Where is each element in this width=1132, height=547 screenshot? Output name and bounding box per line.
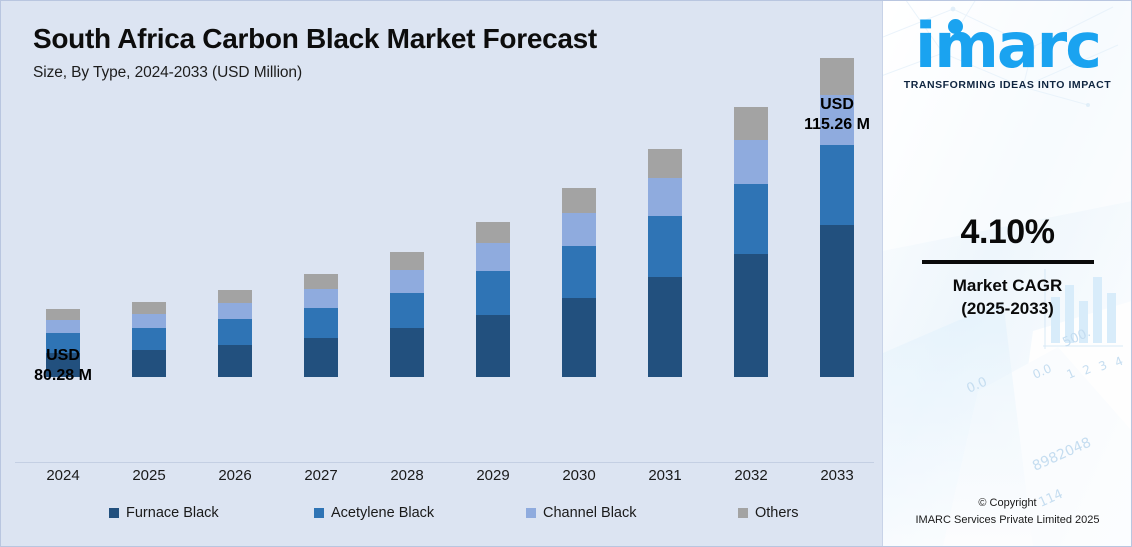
legend-label: Furnace Black (126, 505, 219, 521)
bar-2027[interactable] (304, 274, 338, 377)
bar-segment-others-2030[interactable] (562, 188, 596, 213)
x-axis-line (15, 462, 874, 463)
bar-segment-others-2029[interactable] (476, 222, 510, 243)
legend-item-acetylene-black[interactable]: Acetylene Black (314, 505, 434, 521)
bar-segment-acetylene-black-2028[interactable] (390, 293, 424, 328)
bar-2026[interactable] (218, 290, 252, 377)
bar-segment-acetylene-black-2032[interactable] (734, 184, 768, 254)
bar-segment-acetylene-black-2025[interactable] (132, 328, 166, 350)
bar-segment-furnace-black-2025[interactable] (132, 350, 166, 377)
bar-2029[interactable] (476, 222, 510, 377)
bar-value-label-2033: USD 115.26 M (777, 95, 897, 135)
x-axis-tick-2032: 2032 (711, 467, 791, 484)
bar-segment-acetylene-black-2031[interactable] (648, 216, 682, 277)
bar-segment-others-2024[interactable] (46, 309, 80, 320)
cagr-divider (922, 260, 1094, 264)
bar-2032[interactable] (734, 107, 768, 377)
imarc-logo: imarc TRANSFORMING IDEAS INTO IMPACT (883, 17, 1131, 91)
bar-segment-acetylene-black-2026[interactable] (218, 319, 252, 345)
bar-segment-channel-black-2028[interactable] (390, 270, 424, 293)
bar-segment-furnace-black-2027[interactable] (304, 338, 338, 377)
logo-dot-icon (948, 19, 963, 34)
bar-segment-acetylene-black-2030[interactable] (562, 246, 596, 298)
x-axis-tick-2030: 2030 (539, 467, 619, 484)
bar-segment-channel-black-2026[interactable] (218, 303, 252, 319)
chart-infographic: South Africa Carbon Black Market Forecas… (0, 0, 1132, 547)
legend-swatch-icon (314, 508, 324, 518)
bar-segment-furnace-black-2029[interactable] (476, 315, 510, 377)
legend-item-furnace-black[interactable]: Furnace Black (109, 505, 219, 521)
bar-segment-acetylene-black-2033[interactable] (820, 145, 854, 225)
copyright-line-1: © Copyright (883, 495, 1131, 513)
legend-label: Others (755, 505, 799, 521)
x-axis-tick-2031: 2031 (625, 467, 705, 484)
copyright-line-2: IMARC Services Private Limited 2025 (883, 512, 1131, 530)
bar-2030[interactable] (562, 188, 596, 377)
cagr-block: 4.10% Market CAGR (2025-2033) (883, 213, 1131, 319)
x-axis-tick-2025: 2025 (109, 467, 189, 484)
bar-2025[interactable] (132, 302, 166, 377)
bar-segment-others-2031[interactable] (648, 149, 682, 178)
bar-segment-furnace-black-2030[interactable] (562, 298, 596, 377)
bar-segment-channel-black-2027[interactable] (304, 289, 338, 308)
bar-segment-acetylene-black-2027[interactable] (304, 308, 338, 338)
cagr-value: 4.10% (883, 213, 1131, 252)
x-axis-tick-2029: 2029 (453, 467, 533, 484)
x-axis-tick-2024: 2024 (23, 467, 103, 484)
legend-label: Channel Black (543, 505, 637, 521)
logo-wordmark: imarc (915, 17, 1100, 76)
bar-segment-channel-black-2025[interactable] (132, 314, 166, 328)
bar-segment-others-2027[interactable] (304, 274, 338, 289)
legend-label: Acetylene Black (331, 505, 434, 521)
bar-segment-others-2026[interactable] (218, 290, 252, 303)
bar-segment-others-2028[interactable] (390, 252, 424, 270)
x-axis-tick-2026: 2026 (195, 467, 275, 484)
x-axis-tick-2028: 2028 (367, 467, 447, 484)
bar-segment-channel-black-2030[interactable] (562, 213, 596, 246)
bar-segment-furnace-black-2026[interactable] (218, 345, 252, 377)
legend-swatch-icon (738, 508, 748, 518)
bar-segment-furnace-black-2032[interactable] (734, 254, 768, 377)
bar-segment-others-2032[interactable] (734, 107, 768, 140)
bar-2031[interactable] (648, 149, 682, 377)
bar-segment-furnace-black-2031[interactable] (648, 277, 682, 377)
bar-segment-channel-black-2032[interactable] (734, 140, 768, 184)
bar-segment-channel-black-2024[interactable] (46, 320, 80, 333)
copyright-block: © Copyright IMARC Services Private Limit… (883, 495, 1131, 530)
cagr-period: (2025-2033) (883, 299, 1131, 319)
x-axis-labels: 2024202520262027202820292030203120322033 (1, 467, 882, 491)
bar-segment-channel-black-2029[interactable] (476, 243, 510, 271)
legend-swatch-icon (109, 508, 119, 518)
bar-segment-furnace-black-2028[interactable] (390, 328, 424, 377)
legend-item-channel-black[interactable]: Channel Black (526, 505, 637, 521)
chart-panel: South Africa Carbon Black Market Forecas… (1, 1, 882, 546)
legend-swatch-icon (526, 508, 536, 518)
x-axis-tick-2027: 2027 (281, 467, 361, 484)
cagr-label: Market CAGR (883, 274, 1131, 299)
bar-segment-furnace-black-2033[interactable] (820, 225, 854, 377)
bar-segment-acetylene-black-2029[interactable] (476, 271, 510, 315)
plot-area: USD 80.28 MUSD 115.26 M (1, 1, 882, 463)
bar-segment-channel-black-2031[interactable] (648, 178, 682, 216)
bar-2028[interactable] (390, 252, 424, 377)
bar-segment-others-2033[interactable] (820, 58, 854, 95)
bar-value-label-2024: USD 80.28 M (3, 346, 123, 386)
x-axis-tick-2033: 2033 (797, 467, 877, 484)
chart-legend: Furnace BlackAcetylene BlackChannel Blac… (1, 505, 882, 529)
brand-panel: 500. 0.0 1 2 3 4 8982048 114 0.0 (882, 1, 1131, 546)
bar-segment-others-2025[interactable] (132, 302, 166, 314)
legend-item-others[interactable]: Others (738, 505, 799, 521)
